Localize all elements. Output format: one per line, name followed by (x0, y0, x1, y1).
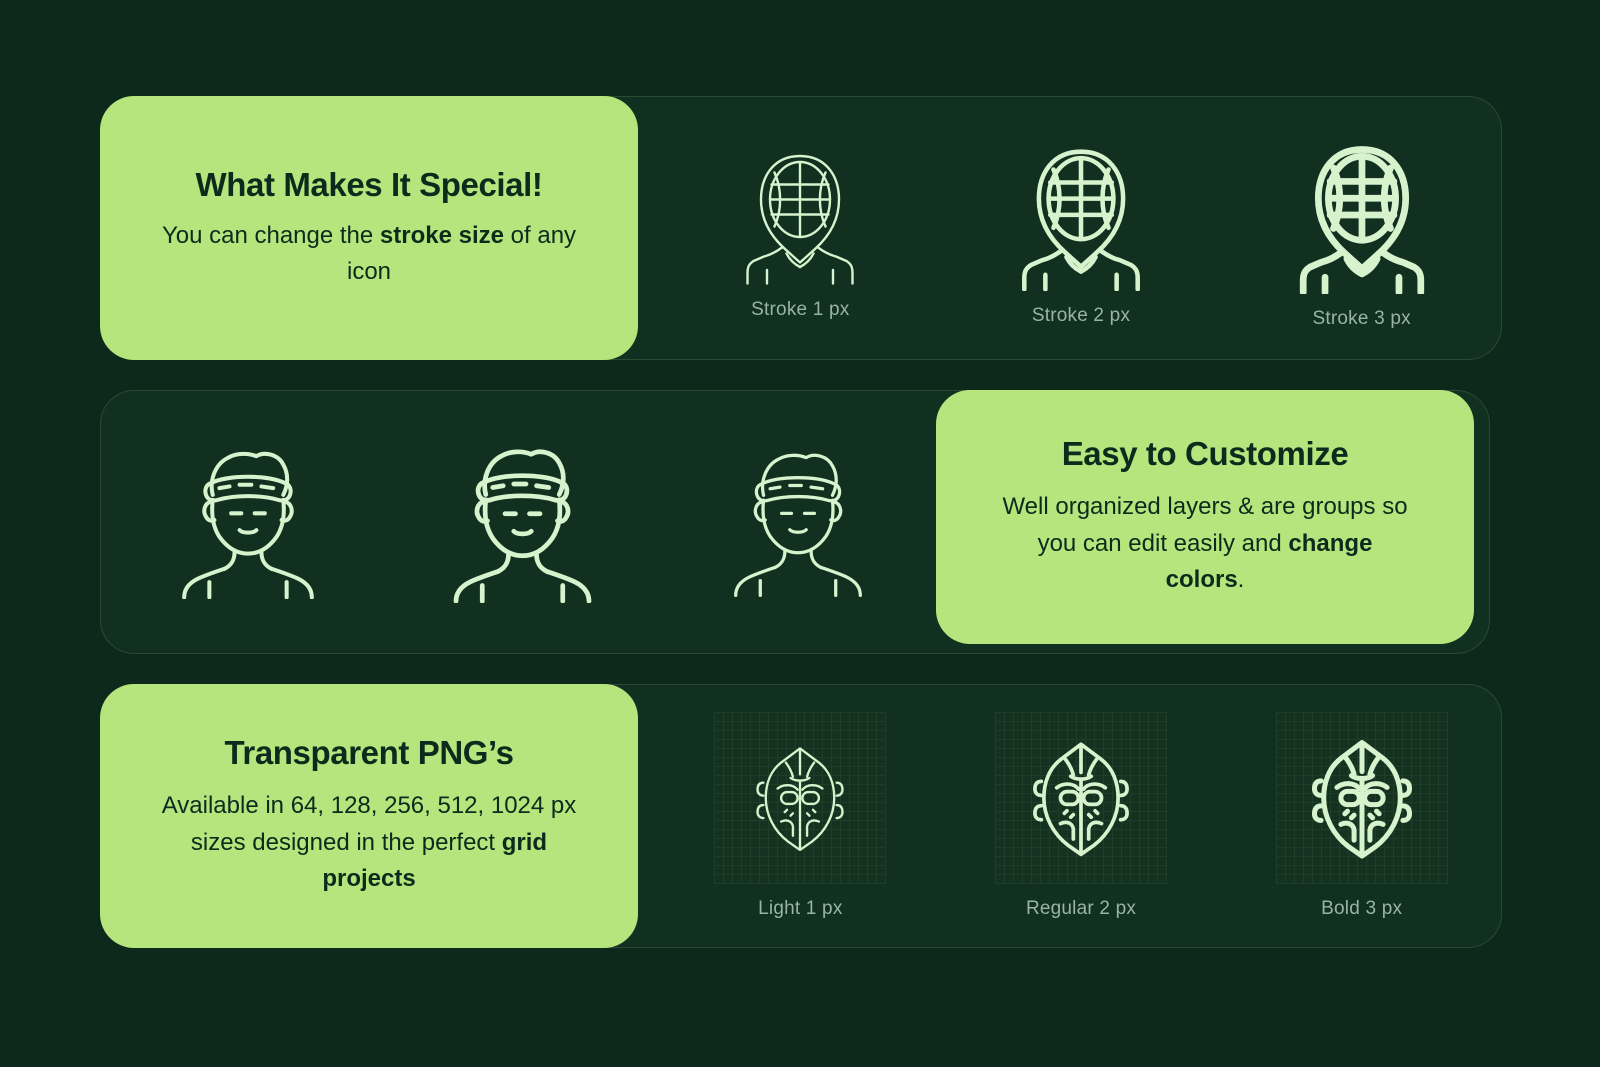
card-body-text-after: . (1238, 566, 1245, 593)
card-body: Available in 64, 128, 256, 512, 1024 px … (159, 788, 579, 897)
icon-row-bandana-people (110, 390, 936, 654)
fencing-mask-icon (1000, 129, 1162, 291)
card-title: What Makes It Special! (196, 166, 543, 204)
icon-caption: Stroke 2 px (1032, 305, 1130, 327)
grid-backdrop (995, 712, 1167, 884)
tribal-mask-icon (741, 739, 859, 857)
icon-cell-regular-2[interactable]: Regular 2 px (941, 684, 1222, 948)
card-body-text-before: You can change the (162, 222, 380, 249)
bandana-person-icon (435, 428, 610, 603)
feature-card-transparent-pngs: Transparent PNG’s Available in 64, 128, … (100, 684, 638, 948)
icon-caption: Regular 2 px (1026, 898, 1136, 920)
icon-caption: Light 1 px (758, 898, 842, 920)
card-title: Transparent PNG’s (224, 734, 513, 772)
icon-cell-bandana-2[interactable] (385, 390, 660, 654)
card-body: You can change the stroke size of any ic… (159, 218, 579, 291)
grid-backdrop (1276, 712, 1448, 884)
tribal-mask-icon (1296, 732, 1428, 864)
icon-caption: Bold 3 px (1321, 898, 1402, 920)
icon-row-fencing-masks: Stroke 1 px (660, 96, 1502, 360)
feature-card-what-makes-it-special: What Makes It Special! You can change th… (100, 96, 638, 360)
icon-cell-bandana-1[interactable] (110, 390, 385, 654)
tribal-mask-icon (1017, 734, 1145, 862)
icon-caption: Stroke 3 px (1313, 308, 1411, 330)
fencing-mask-icon (1278, 126, 1446, 294)
bandana-person-icon (164, 431, 332, 599)
card-title: Easy to Customize (1062, 435, 1349, 473)
icon-row-tribal-masks: Light 1 px (660, 684, 1502, 948)
grid-backdrop (714, 712, 886, 884)
card-body: Well organized layers & are groups so yo… (995, 489, 1415, 598)
icon-caption: Stroke 1 px (751, 299, 849, 321)
bandana-person-icon (716, 433, 880, 597)
icon-cell-light-1[interactable]: Light 1 px (660, 684, 941, 948)
feature-card-easy-to-customize: Easy to Customize Well organized layers … (936, 390, 1474, 644)
icon-cell-stroke-3[interactable]: Stroke 3 px (1221, 96, 1502, 360)
fencing-mask-icon (725, 135, 875, 285)
icon-cell-bandana-3[interactable] (661, 390, 936, 654)
icon-cell-stroke-2[interactable]: Stroke 2 px (941, 96, 1222, 360)
icon-cell-stroke-1[interactable]: Stroke 1 px (660, 96, 941, 360)
icon-cell-bold-3[interactable]: Bold 3 px (1221, 684, 1502, 948)
card-body-emphasis: stroke size (380, 222, 504, 249)
poster-canvas: Stroke 1 px (0, 0, 1600, 1067)
